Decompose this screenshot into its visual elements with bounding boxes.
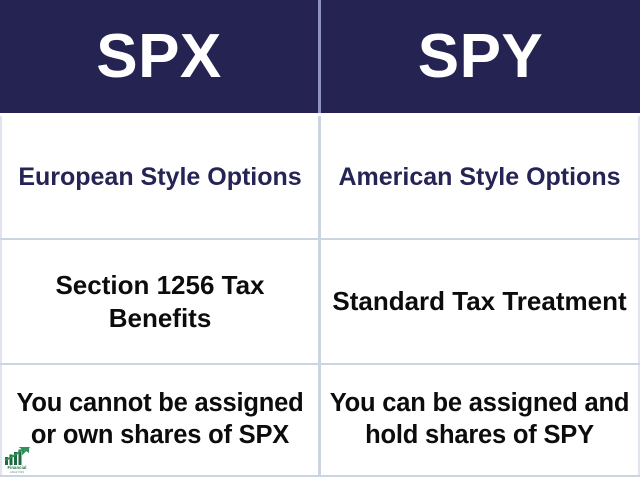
cell-text: You cannot be assigned or own shares of … [10,388,310,451]
header-cell-spx: SPX [0,0,320,113]
table-row: Section 1256 Tax Benefits Standard Tax T… [0,240,640,365]
cell-text: American Style Options [338,162,620,193]
cell-spy-assignment: You can be assigned and hold shares of S… [320,365,640,475]
header-label-spx: SPX [96,26,222,88]
spx-spy-comparison-table: SPX SPY European Style Options American … [0,0,640,480]
cell-text: Section 1256 Tax Benefits [10,269,310,333]
table-row: You cannot be assigned or own shares of … [0,365,640,477]
cell-spx-assignment: You cannot be assigned or own shares of … [0,365,320,475]
cell-spx-option-style: European Style Options [0,116,320,238]
cell-spy-option-style: American Style Options [320,116,640,238]
cell-spy-tax-treatment: Standard Tax Treatment [320,240,640,363]
cell-text: Standard Tax Treatment [332,285,626,317]
header-label-spy: SPY [418,26,544,88]
table-row: European Style Options American Style Op… [0,116,640,240]
header-cell-spy: SPY [320,0,640,113]
cell-spx-tax-treatment: Section 1256 Tax Benefits [0,240,320,363]
comparison-infographic: SPX SPY European Style Options American … [0,0,640,480]
cell-text: European Style Options [18,162,301,193]
table-body: European Style Options American Style Op… [0,116,640,480]
table-header-row: SPX SPY [0,0,640,116]
cell-text: You can be assigned and hold shares of S… [329,388,630,451]
